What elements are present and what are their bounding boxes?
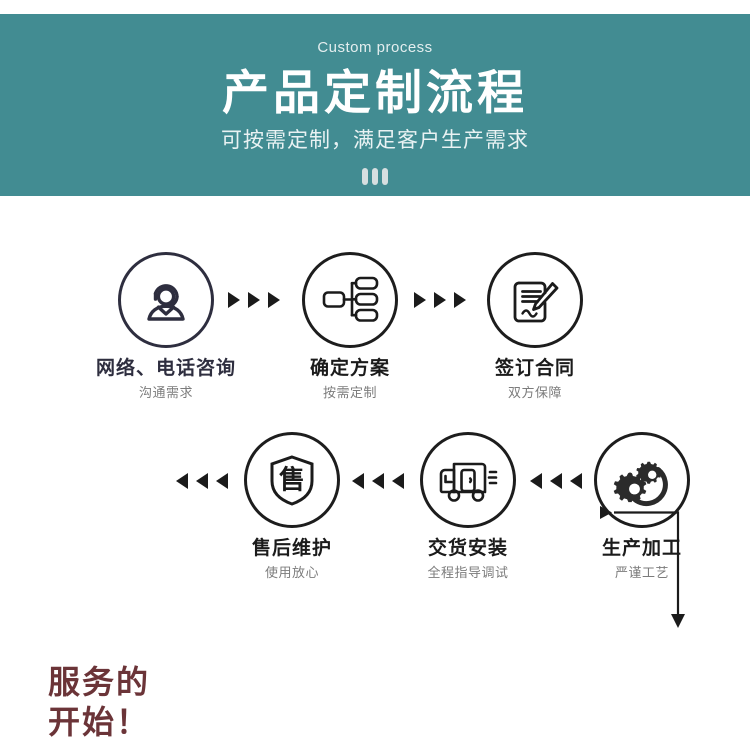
flow-step-subtitle: 沟通需求 [96,386,236,400]
gears-production-icon [594,432,690,528]
triangle-right-icon [248,292,260,308]
divider-dot [382,168,388,185]
header-banner: Custom process 产品定制流程 可按需定制，满足客户生产需求 [0,14,750,196]
triangle-right-icon [434,292,446,308]
triangle-left-icon [176,473,188,489]
flowchart-icon [302,252,398,348]
flow-step-aftersales[interactable]: 售 售后维护 使用放心 [222,432,362,580]
banner-eyebrow: Custom process [0,40,750,55]
divider-dot [372,168,378,185]
triangle-left-icon [372,473,384,489]
flow-step-plan[interactable]: 确定方案 按需定制 [280,252,420,400]
delivery-truck-icon [420,432,516,528]
process-flow-diagram: 网络、电话咨询 沟通需求 确定方案 按需定制 [0,196,750,630]
flow-step-title: 生产加工 [572,539,712,560]
arrow-group-left-2 [352,473,404,489]
arrow-group-right-1 [228,292,280,308]
triangle-right-icon [228,292,240,308]
flow-step-subtitle: 全程指导调试 [398,566,538,580]
triangle-right-icon [414,292,426,308]
triangle-right-icon [268,292,280,308]
banner-subtitle: 可按需定制，满足客户生产需求 [0,130,750,151]
flow-step-consultation[interactable]: 网络、电话咨询 沟通需求 [96,252,236,400]
flow-step-title: 交货安装 [398,539,538,560]
arrow-group-left-1 [176,473,228,489]
flow-step-title: 网络、电话咨询 [96,359,236,380]
start-label: 服务的 开始！ [48,662,150,742]
flow-step-subtitle: 双方保障 [465,386,605,400]
top-white-strip [0,0,750,14]
flow-step-title: 售后维护 [222,539,362,560]
arrow-group-right-2 [414,292,466,308]
flow-step-title: 确定方案 [280,359,420,380]
contract-pen-icon [487,252,583,348]
flow-step-delivery[interactable]: 交货安装 全程指导调试 [398,432,538,580]
flow-step-production[interactable]: 生产加工 严谨工艺 [572,432,712,580]
flow-step-subtitle: 使用放心 [222,566,362,580]
triangle-left-icon [530,473,542,489]
divider-dot [362,168,368,185]
flow-step-subtitle: 按需定制 [280,386,420,400]
banner-divider-dots [0,168,750,185]
headset-person-icon [118,252,214,348]
shield-label-char: 售 [279,466,305,492]
triangle-left-icon [196,473,208,489]
page-title: 产品定制流程 [0,68,750,119]
flow-step-title: 签订合同 [465,359,605,380]
shield-aftersales-icon: 售 [244,432,340,528]
triangle-left-icon [550,473,562,489]
flow-step-contract[interactable]: 签订合同 双方保障 [465,252,605,400]
flow-step-subtitle: 严谨工艺 [572,566,712,580]
triangle-left-icon [352,473,364,489]
